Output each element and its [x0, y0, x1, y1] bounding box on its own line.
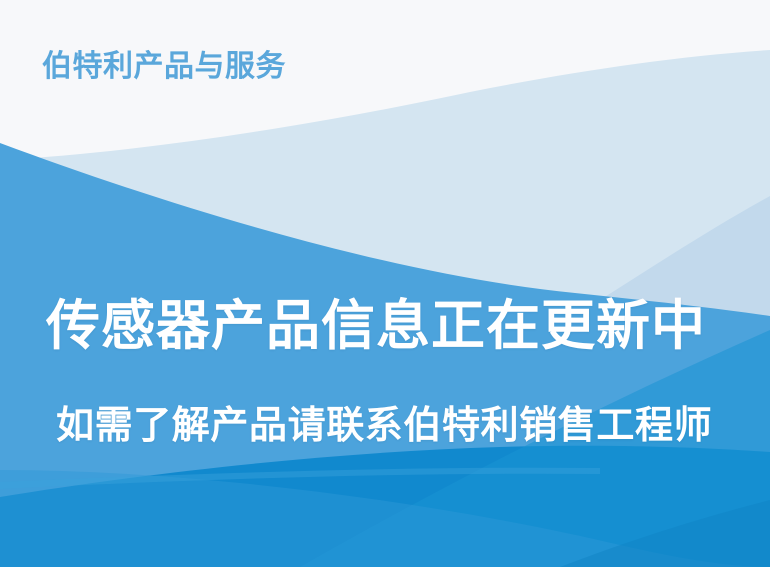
banner-headline: 传感器产品信息正在更新中 — [46, 296, 706, 356]
banner-text-layer: 伯特利产品与服务 传感器产品信息正在更新中 如需了解产品请联系伯特利销售工程师 — [0, 0, 770, 567]
product-service-banner: 伯特利产品与服务 传感器产品信息正在更新中 如需了解产品请联系伯特利销售工程师 — [0, 0, 770, 567]
banner-subheadline: 如需了解产品请联系伯特利销售工程师 — [56, 404, 712, 447]
banner-eyebrow-title: 伯特利产品与服务 — [42, 50, 286, 83]
